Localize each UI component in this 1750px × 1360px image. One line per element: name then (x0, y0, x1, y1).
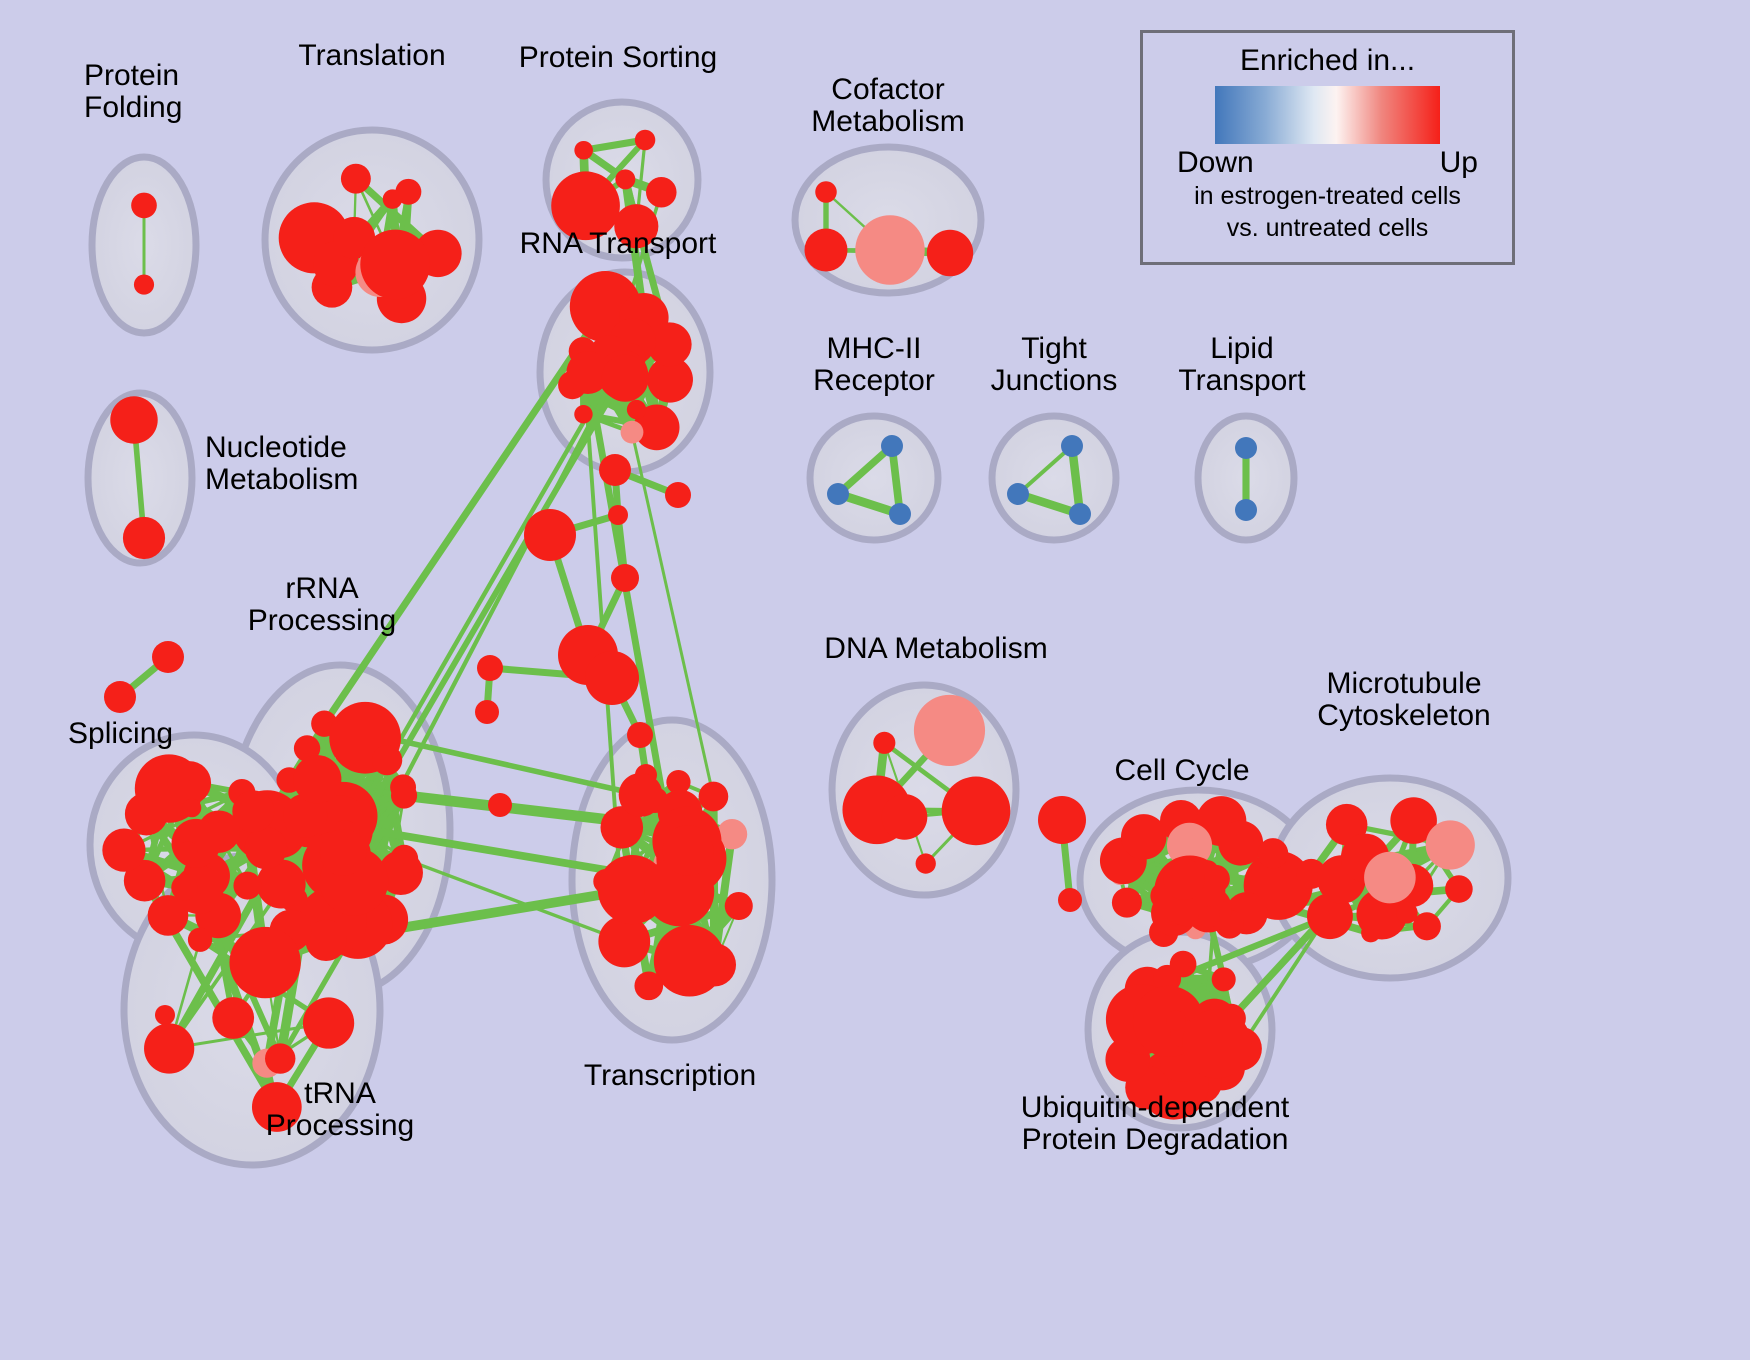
network-node (383, 189, 403, 209)
network-node (1413, 912, 1441, 940)
network-node (1218, 821, 1263, 866)
network-node (873, 732, 895, 754)
network-node (110, 396, 157, 443)
network-node (1163, 859, 1204, 900)
network-node (245, 827, 287, 869)
network-node (627, 722, 653, 748)
cluster-label-tight-junctions: Tight Junctions (991, 333, 1118, 397)
network-node (855, 215, 924, 284)
network-node (341, 164, 371, 194)
legend-high-label: Up (1440, 146, 1478, 180)
network-node (172, 819, 221, 868)
network-node (634, 971, 663, 1000)
network-node (602, 355, 649, 402)
network-node (488, 793, 512, 817)
network-node (725, 892, 753, 920)
cluster-label-protein-sorting: Protein Sorting (519, 42, 717, 74)
cluster-label-microtubule-cytoskeleton: Microtubule Cytoskeleton (1317, 668, 1490, 732)
cluster-ellipse-mhc-ii-receptor (810, 416, 938, 540)
network-node (663, 825, 714, 876)
legend-low-label: Down (1177, 146, 1254, 180)
network-node (942, 777, 1011, 846)
network-node (477, 655, 503, 681)
network-node (1198, 906, 1220, 928)
network-node (889, 503, 911, 525)
network-node (585, 651, 639, 705)
cluster-label-rrna-processing: rRNA Processing (248, 573, 396, 637)
network-node (152, 641, 184, 673)
network-node (621, 421, 644, 444)
network-node (1235, 437, 1257, 459)
network-node (1235, 499, 1257, 521)
network-node (293, 755, 341, 803)
network-node (627, 400, 646, 419)
cluster-label-ubiquitin-degradation: Ubiquitin-dependent Protein Degradation (1021, 1092, 1290, 1156)
network-node (229, 927, 300, 998)
network-node (1364, 852, 1416, 904)
network-node (168, 761, 211, 804)
network-node (303, 997, 354, 1048)
network-node (882, 794, 928, 840)
network-node (1426, 820, 1475, 869)
cluster-label-mhc-ii-receptor: MHC-II Receptor (813, 333, 935, 397)
network-node (815, 181, 837, 203)
legend-title: Enriched in... (1143, 44, 1512, 78)
network-node (178, 841, 197, 860)
cluster-label-nucleotide-metabolism: Nucleotide Metabolism (205, 432, 358, 496)
network-node (134, 275, 154, 295)
cluster-label-dna-metabolism: DNA Metabolism (824, 633, 1047, 665)
network-node (265, 1043, 295, 1073)
network-node (881, 435, 903, 457)
network-node (635, 130, 655, 150)
network-node (1396, 902, 1418, 924)
network-node (475, 700, 499, 724)
cluster-label-transcription: Transcription (584, 1060, 756, 1092)
network-node (102, 829, 145, 872)
network-node (320, 829, 367, 876)
network-node (183, 799, 202, 818)
network-node (598, 916, 650, 968)
legend-box: Enriched in... Down Up in estrogen-treat… (1140, 30, 1515, 265)
network-node (1038, 796, 1086, 844)
network-node (574, 405, 592, 423)
network-node (188, 928, 212, 952)
cluster-label-lipid-transport: Lipid Transport (1178, 333, 1305, 397)
network-node (131, 193, 157, 219)
cluster-label-cell-cycle: Cell Cycle (1114, 755, 1249, 787)
network-node (916, 853, 936, 873)
network-node (615, 169, 635, 189)
network-node (654, 925, 725, 996)
network-node (699, 782, 729, 812)
network-node (827, 483, 849, 505)
cluster-label-splicing: Splicing (68, 718, 173, 750)
network-node (1170, 951, 1197, 978)
cluster-label-rna-transport: RNA Transport (520, 228, 717, 260)
network-node (1069, 503, 1091, 525)
network-node (611, 564, 639, 592)
network-node (233, 872, 261, 900)
network-node (805, 229, 848, 272)
network-node (1058, 888, 1082, 912)
network-node (1258, 838, 1289, 869)
cluster-label-translation: Translation (298, 40, 445, 72)
network-node (104, 681, 136, 713)
network-node (665, 482, 691, 508)
legend-caption-line2: vs. untreated cells (1143, 214, 1512, 244)
network-node (927, 230, 973, 276)
network-node (212, 997, 254, 1039)
network-node (1166, 1010, 1186, 1030)
network-node (1182, 1009, 1251, 1078)
network-node (1121, 814, 1167, 860)
network-node (305, 920, 346, 961)
network-node (1212, 967, 1236, 991)
network-node (574, 141, 593, 160)
legend-caption-line1: in estrogen-treated cells (1143, 182, 1512, 212)
network-node (123, 517, 165, 559)
network-node (391, 782, 417, 808)
network-node (1445, 875, 1473, 903)
cluster-label-protein-folding: Protein Folding (84, 60, 182, 124)
network-node (1112, 888, 1142, 918)
network-node (646, 177, 677, 208)
legend-color-gradient (1215, 86, 1440, 144)
network-node (1061, 435, 1083, 457)
network-node (619, 773, 663, 817)
network-node (144, 1023, 194, 1073)
network-node (1007, 483, 1029, 505)
network-node (155, 1005, 175, 1025)
network-node (360, 230, 430, 300)
network-figure: Protein FoldingTranslationProtein Sortin… (0, 0, 1750, 1360)
cluster-label-trna-processing: tRNA Processing (266, 1078, 414, 1142)
network-node (524, 509, 576, 561)
network-node (372, 745, 402, 775)
network-node (171, 874, 197, 900)
cluster-ellipse-tight-junctions (992, 416, 1116, 540)
cluster-label-cofactor-metabolism: Cofactor Metabolism (811, 74, 964, 138)
network-node (599, 454, 631, 486)
network-node (914, 695, 985, 766)
network-node (608, 505, 628, 525)
